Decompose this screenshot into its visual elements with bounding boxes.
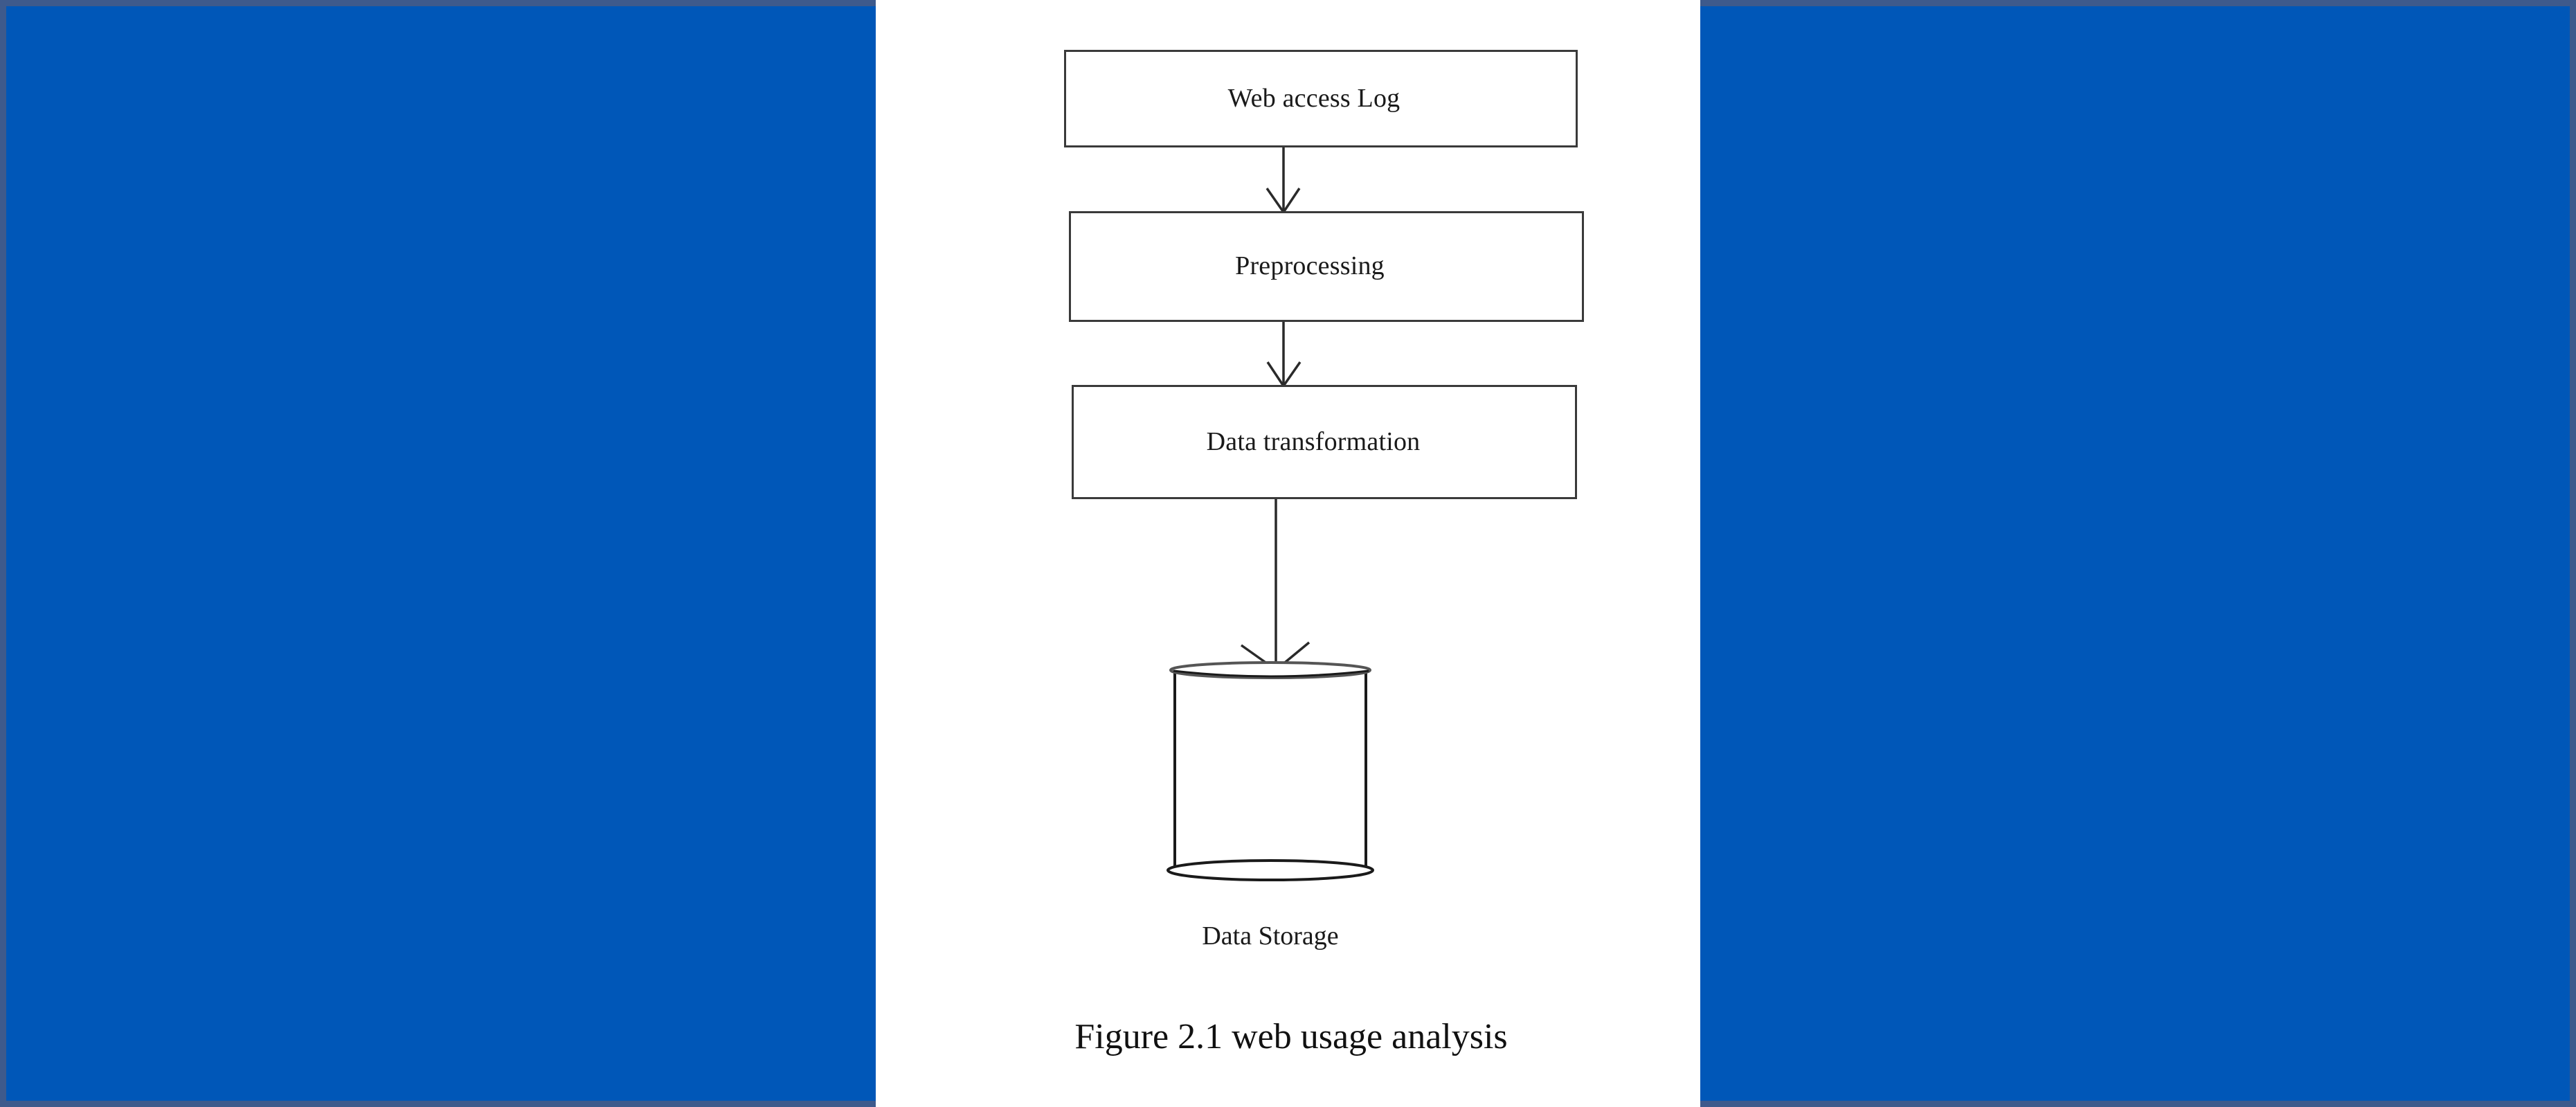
node-data-transformation-label: Data transformation xyxy=(1072,429,1564,456)
node-data-storage-cylinder[interactable] xyxy=(1167,661,1374,890)
edge-preprocessing-to-transformation xyxy=(1268,322,1300,386)
node-preprocessing[interactable]: Preprocessing xyxy=(1069,211,1584,322)
flowchart-diagram: Web access Log Preprocessing Data transf… xyxy=(876,0,1700,1107)
node-data-transformation[interactable]: Data transformation xyxy=(1072,385,1577,499)
node-web-access-log[interactable]: Web access Log xyxy=(1064,50,1578,147)
document-page: Web access Log Preprocessing Data transf… xyxy=(876,0,1700,1107)
document-viewer: Web access Log Preprocessing Data transf… xyxy=(0,0,2576,1107)
edge-weblog-to-preprocessing xyxy=(1267,147,1299,213)
node-data-storage-label: Data Storage xyxy=(1104,921,1436,951)
node-preprocessing-label: Preprocessing xyxy=(1069,253,1565,280)
node-web-access-log-label: Web access Log xyxy=(1064,85,1569,113)
edge-transformation-to-storage xyxy=(1241,499,1309,670)
figure-caption: Figure 2.1 web usage analysis xyxy=(942,1016,1641,1057)
